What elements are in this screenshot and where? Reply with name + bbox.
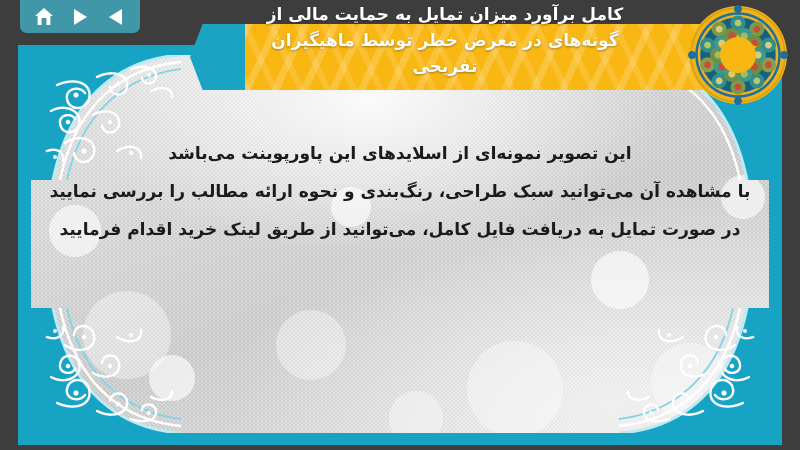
home-icon	[34, 7, 54, 26]
body-line: با مشاهده آن می‌توانید سبک طراحی، رنگ‌بن…	[40, 173, 760, 211]
home-button[interactable]	[31, 4, 57, 30]
slide-body-text: این تصویر نمونه‌ای از اسلایدهای این پاور…	[40, 135, 760, 249]
back-button[interactable]	[103, 4, 129, 30]
back-triangle-icon	[108, 8, 124, 26]
persian-medallion-ornament	[686, 3, 790, 107]
viewer-nav-bar	[20, 0, 140, 33]
title-line: کامل برآورد میزان تمایل به حمایت مالی از	[200, 2, 690, 28]
body-line: این تصویر نمونه‌ای از اسلایدهای این پاور…	[40, 135, 760, 173]
bokeh-circle	[591, 251, 649, 309]
body-line: در صورت تمایل به دریافت فایل کامل، می‌تو…	[40, 211, 760, 249]
bokeh-circle	[651, 343, 729, 421]
forward-triangle-icon	[72, 8, 88, 26]
title-line: تفریحی	[200, 54, 690, 80]
bokeh-circle	[149, 355, 195, 401]
bokeh-circle	[467, 341, 563, 433]
page-title: کامل برآورد میزان تمایل به حمایت مالی از…	[200, 2, 690, 80]
bokeh-circle	[276, 310, 346, 380]
title-line: گونه‌های در معرض خطر توسط ماهیگیران	[200, 28, 690, 54]
forward-button[interactable]	[67, 4, 93, 30]
